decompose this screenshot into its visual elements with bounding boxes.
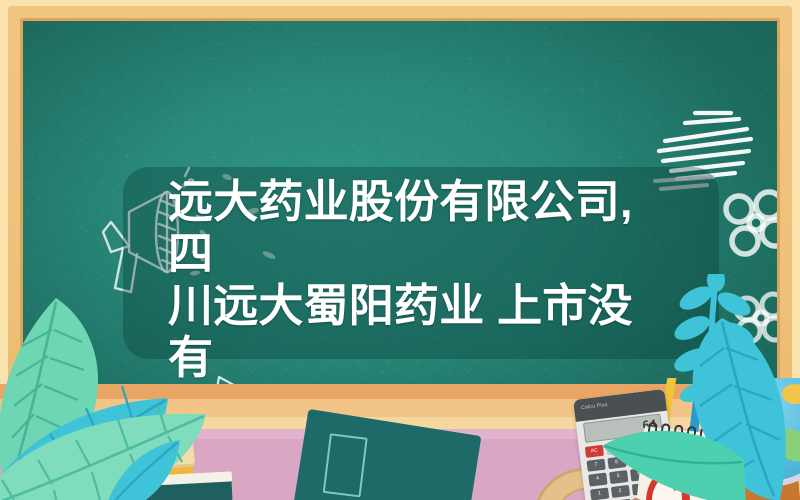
headline-line-2: 川远大蜀阳药业 上市没有 [168,280,633,383]
banner-stage: 远大药业股份有限公司,四川远大蜀阳药业 上市没有 [0,0,800,500]
page-title: 远大药业股份有限公司,四川远大蜀阳药业 上市没有 [168,176,638,384]
leaf-frond-bottom-right [596,416,746,500]
headline-line-1: 远大药业股份有限公司,四 [168,176,633,279]
leaf-cyan-small [96,436,186,500]
